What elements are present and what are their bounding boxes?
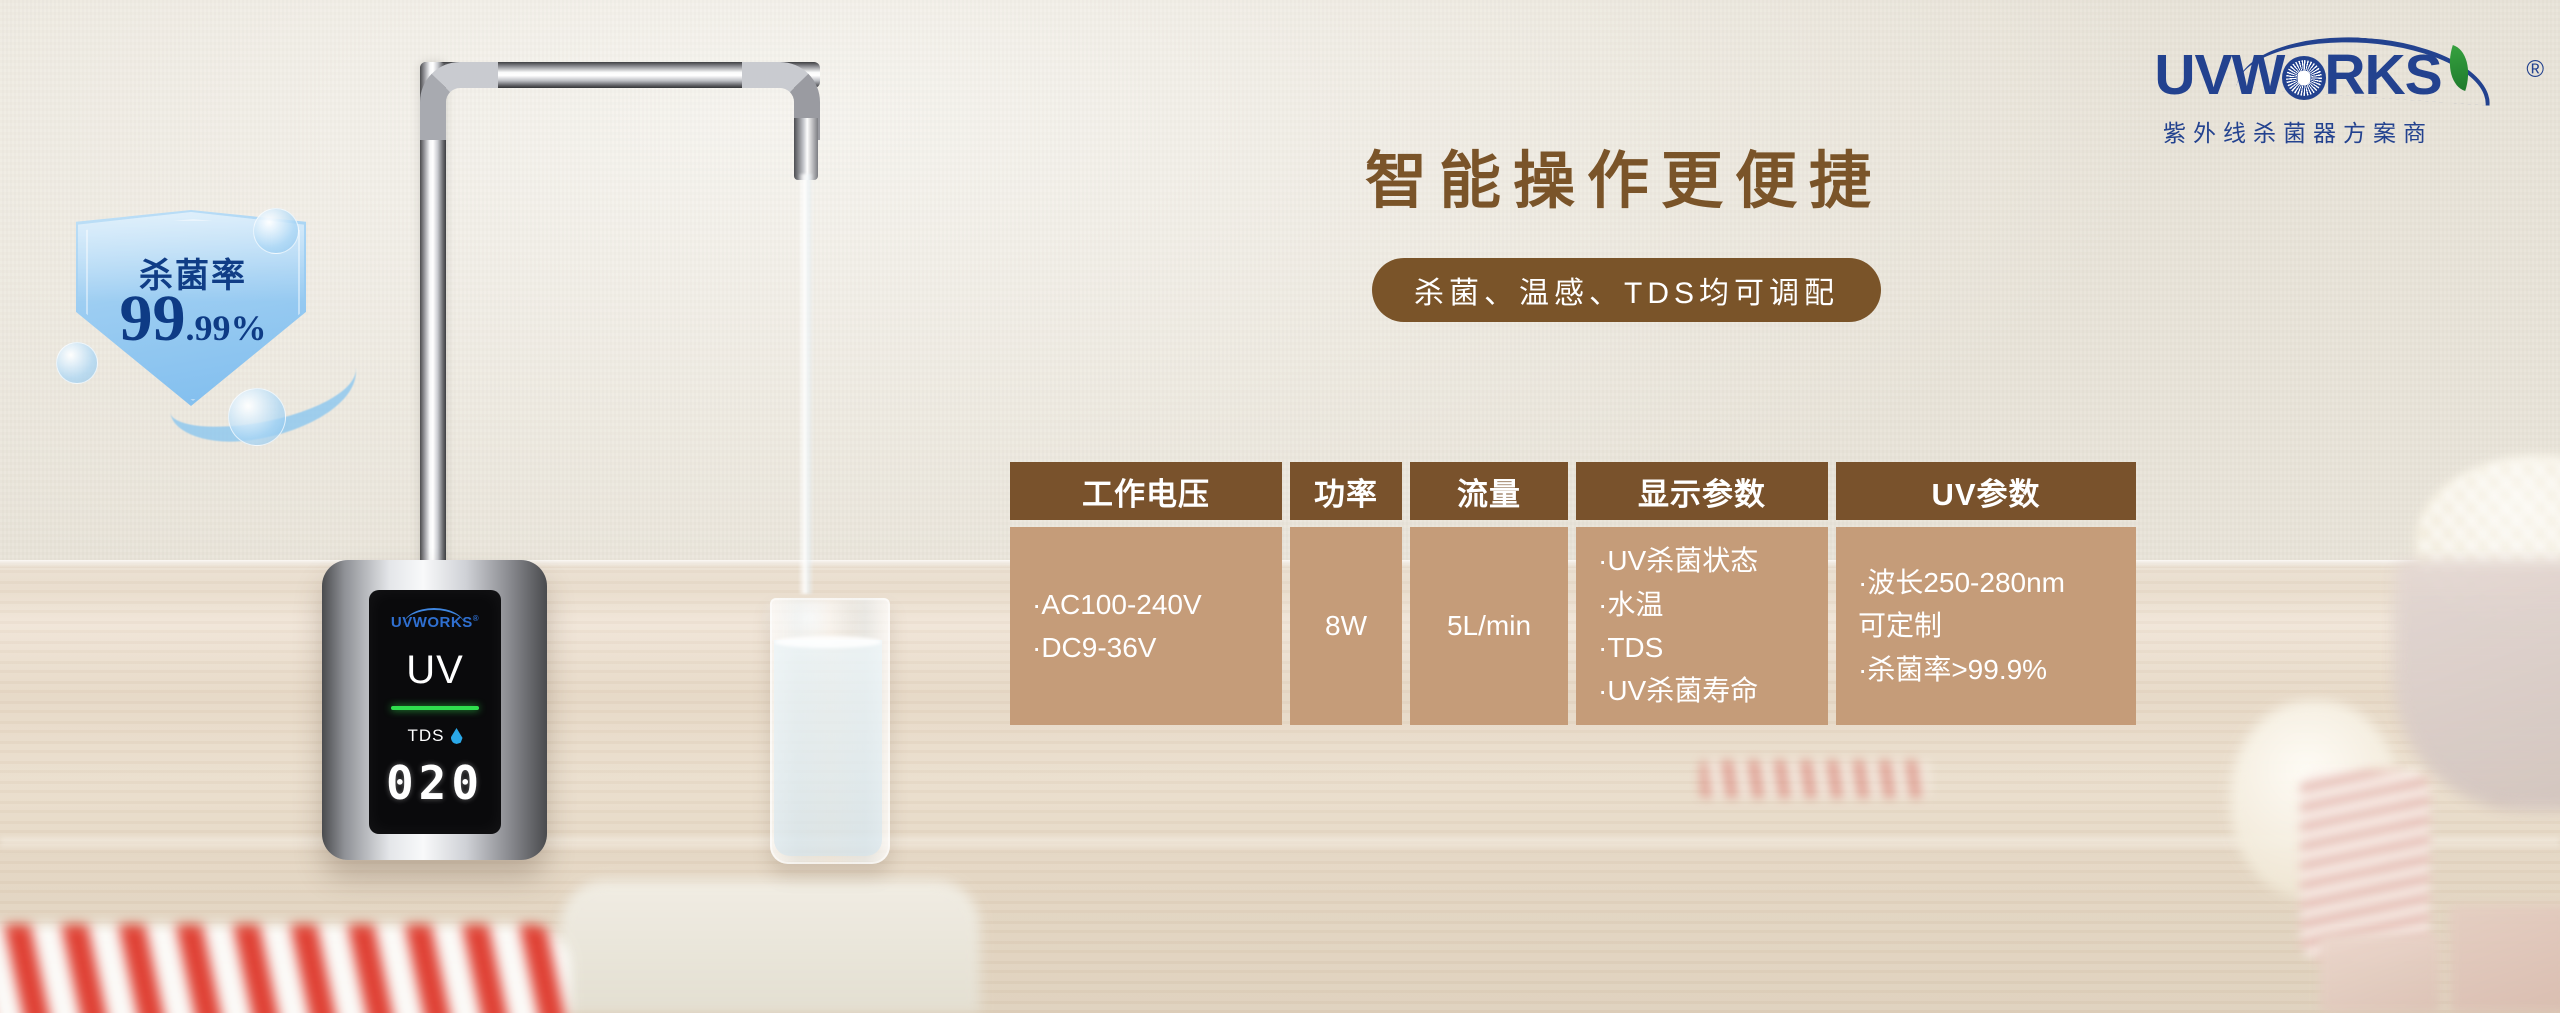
device-mode-label: UV (369, 648, 501, 693)
spec-item: ·杀菌率>99.9% (1858, 648, 2047, 691)
device-status-bar (391, 706, 479, 710)
spec-item: ·DC9-36V (1032, 626, 1156, 669)
spec-item: ·水温 (1598, 583, 1663, 626)
brand-wordmark: UVWRKS® (2154, 42, 2441, 108)
feature-pill-label: 杀菌、温感、TDS均可调配 (1414, 268, 1839, 312)
device-logo: UVWORKS® (369, 614, 501, 631)
spec-header-uv: UV参数 (1836, 462, 2136, 520)
registered-mark: ® (2526, 56, 2543, 84)
brand-logo: UVWRKS® 紫外线杀菌器方案商 (2098, 42, 2498, 148)
device-logo-registered: ® (473, 614, 479, 623)
spec-header-flow: 流量 (1410, 462, 1568, 520)
spec-body-uv: ·波长250-280nm 可定制 ·杀菌率>99.9% (1836, 527, 2136, 725)
spec-header-voltage: 工作电压 (1010, 462, 1282, 520)
spec-column-voltage: 工作电压 ·AC100-240V ·DC9-36V (1010, 462, 1282, 725)
badge-value: 99.99% (48, 286, 338, 352)
white-plate-prop (560, 880, 980, 1013)
spec-item: 5L/min (1447, 604, 1531, 647)
device-tds-label: TDS (408, 726, 445, 745)
water-stream (799, 174, 813, 594)
water-drop-icon (451, 728, 463, 744)
uv-sunburst-icon (2282, 56, 2326, 100)
badge-value-decimal: .99% (186, 308, 267, 348)
device-display-screen[interactable]: UVWORKS® UV TDS 020 (369, 590, 501, 834)
spec-item: ·TDS (1598, 626, 1663, 669)
page-title: 智能操作更便捷 (1365, 130, 1883, 220)
spec-item: 8W (1325, 604, 1367, 647)
wood-block-prop-a (2450, 905, 2560, 1013)
feature-pill: 杀菌、温感、TDS均可调配 (1372, 258, 1881, 322)
bubble-icon-3 (228, 388, 286, 446)
device-tds-value: 020 (369, 756, 501, 810)
spec-item: ·波长250-280nm (1858, 561, 2065, 604)
device-tds-row: TDS (369, 726, 501, 746)
spec-item: 可定制 (1858, 604, 1942, 647)
faucet-corner-left (420, 62, 498, 140)
striped-cloth-prop (2300, 770, 2430, 960)
spec-column-flow: 流量 5L/min (1410, 462, 1568, 725)
spec-item: ·AC100-240V (1032, 583, 1202, 626)
device-logo-text: UVWORKS (391, 614, 473, 631)
spec-body-power: 8W (1290, 527, 1402, 725)
glass-water-surface (774, 636, 882, 648)
sterilization-rate-badge: 杀菌率 99.99% (48, 192, 338, 442)
wood-block-prop-b (2320, 935, 2440, 1013)
faucet-vertical-post (420, 62, 446, 592)
spec-header-display: 显示参数 (1576, 462, 1828, 520)
spec-header-power: 功率 (1290, 462, 1402, 520)
spec-body-display: ·UV杀菌状态 ·水温 ·TDS ·UV杀菌寿命 (1576, 527, 1828, 725)
badge-value-main: 99 (120, 282, 186, 355)
brand-tagline: 紫外线杀菌器方案商 (2098, 114, 2498, 148)
banner-stage: UVWORKS® UV TDS 020 杀菌率 99.99% 智能操作更便捷 杀… (0, 0, 2560, 1013)
spec-item: ·UV杀菌寿命 (1598, 669, 1758, 712)
faucet-spout (794, 118, 818, 180)
spec-column-power: 功率 8W (1290, 462, 1402, 725)
spec-item: ·UV杀菌状态 (1598, 539, 1758, 582)
spec-column-display: 显示参数 ·UV杀菌状态 ·水温 ·TDS ·UV杀菌寿命 (1576, 462, 1828, 725)
spec-body-voltage: ·AC100-240V ·DC9-36V (1010, 527, 1282, 725)
spec-column-uv: UV参数 ·波长250-280nm 可定制 ·杀菌率>99.9% (1836, 462, 2136, 725)
red-check-cloth-far (1700, 760, 1930, 798)
red-check-cloth-prop (0, 925, 570, 1013)
spec-table: 工作电压 ·AC100-240V ·DC9-36V 功率 8W 流量 5L/mi… (1010, 462, 2136, 725)
glass-water-fill (774, 640, 882, 856)
spec-body-flow: 5L/min (1410, 527, 1568, 725)
